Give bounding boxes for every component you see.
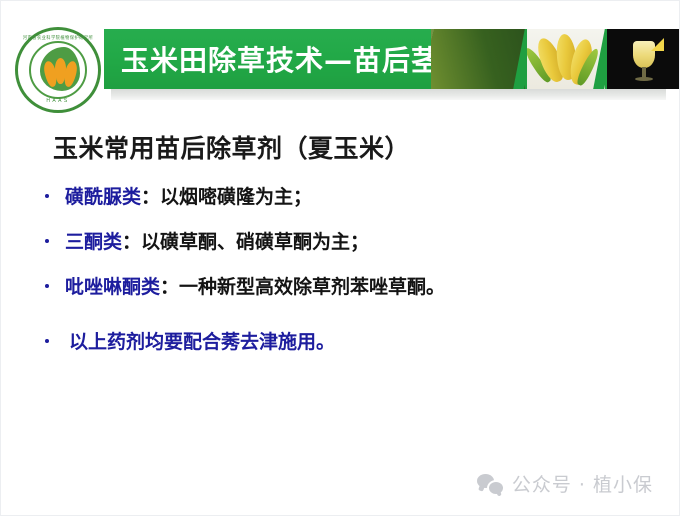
juice-glass-shape — [633, 41, 655, 68]
corn-field-photo-clip — [431, 29, 525, 89]
juice-glass-foot — [635, 77, 653, 81]
presentation-slide: 河南省农业科学院植物保护研究所 HAAS 玉米田除草技术—苗后茎叶处理 — [0, 0, 680, 516]
footer-watermark: 公众号 · 植小保 — [477, 470, 653, 497]
body-heading: 玉米常用苗后除草剂（夏玉米） — [53, 129, 410, 165]
corn-cobs-photo — [527, 29, 605, 89]
wechat-icon — [477, 474, 503, 494]
logo-sub-text: HAAS — [18, 98, 98, 104]
bullet-description: ：以烟嘧磺隆为主； — [141, 182, 312, 209]
header-photo-strip — [431, 29, 680, 89]
bullet-dot-icon — [45, 194, 49, 198]
bullet-dot-icon — [45, 339, 49, 343]
corn-juice-photo-image — [607, 29, 680, 89]
corn-field-photo — [431, 29, 525, 89]
bullet-item: 三酮类 ：以磺草酮、硝磺草酮为主； — [45, 227, 369, 254]
bullet-item: 吡唑啉酮类 ：一种新型高效除草剂苯唑草酮。 — [45, 272, 445, 299]
bullet-term: 吡唑啉酮类 — [65, 272, 160, 299]
bullet-description: ：一种新型高效除草剂苯唑草酮。 — [160, 272, 445, 299]
bullet-term: 以上药剂均要配合莠去津施用。 — [69, 327, 335, 354]
corn-field-photo-image — [431, 29, 525, 89]
bullet-description: ：以磺草酮、硝磺草酮为主； — [122, 227, 369, 254]
corn-institute-logo: 河南省农业科学院植物保护研究所 HAAS — [15, 27, 101, 113]
corn-juice-photo-clip — [607, 29, 680, 89]
slide-body: 玉米常用苗后除草剂（夏玉米） 磺酰脲类 ：以烟嘧磺隆为主； 三酮类 ：以磺草酮、… — [1, 119, 680, 459]
bullet-item: 磺酰脲类 ：以烟嘧磺隆为主； — [45, 182, 312, 209]
corn-cobs-photo-image — [527, 29, 605, 89]
bullet-term: 磺酰脲类 — [65, 182, 141, 209]
bullet-dot-icon — [45, 284, 49, 288]
logo-inner-ring — [29, 41, 87, 99]
corn-cobs-photo-clip — [527, 29, 605, 89]
bullet-dot-icon — [45, 239, 49, 243]
slide-header: 河南省农业科学院植物保护研究所 HAAS 玉米田除草技术—苗后茎叶处理 — [1, 1, 680, 119]
footer-account-label: 公众号 · 植小保 — [512, 470, 653, 497]
wechat-bubble-small — [489, 482, 503, 494]
bullet-item: 以上药剂均要配合莠去津施用。 — [45, 327, 335, 354]
banner-shadow-bar — [111, 89, 666, 100]
title-banner: 玉米田除草技术—苗后茎叶处理 — [104, 29, 680, 89]
bullet-term: 三酮类 — [65, 227, 122, 254]
corn-juice-photo — [607, 29, 680, 89]
